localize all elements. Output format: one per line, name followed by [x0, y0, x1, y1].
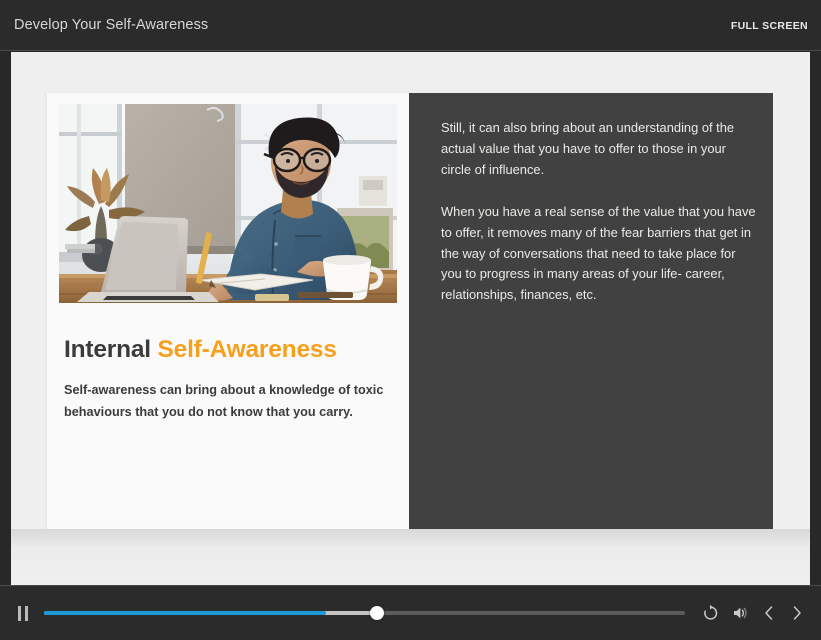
office-photo: [59, 104, 397, 303]
replay-icon: [701, 604, 719, 622]
previous-slide-button[interactable]: [755, 598, 783, 628]
next-slide-button[interactable]: [783, 598, 811, 628]
volume-icon: [731, 604, 749, 622]
narration-paragraph-2: When you have a real sense of the value …: [441, 202, 759, 307]
pause-bar-right: [25, 606, 29, 621]
card-heading-accent: Self-Awareness: [158, 336, 337, 363]
narration-paragraph-1: Still, it can also bring about an unders…: [441, 118, 759, 181]
progress-slider[interactable]: [44, 600, 685, 626]
card-body-text: Self-awareness can bring about a knowled…: [64, 380, 384, 424]
page-title: Develop Your Self-Awareness: [14, 17, 208, 33]
player-control-bar: [0, 585, 821, 640]
progress-handle[interactable]: [370, 606, 384, 620]
slide-stage: Internal Self-Awareness Self-awareness c…: [11, 52, 810, 585]
progress-played: [44, 611, 326, 615]
card-heading-plain: Internal: [64, 336, 158, 363]
content-card: Internal Self-Awareness Self-awareness c…: [47, 93, 409, 544]
narration-panel-content: Still, it can also bring about an unders…: [441, 118, 759, 306]
fullscreen-button[interactable]: FULL SCREEN: [731, 20, 808, 32]
chevron-left-icon: [761, 604, 777, 622]
office-photo-illustration: [59, 104, 397, 303]
pause-bar-left: [18, 606, 22, 621]
volume-button[interactable]: [725, 598, 755, 628]
replay-button[interactable]: [695, 598, 725, 628]
app-header: Develop Your Self-Awareness FULL SCREEN: [0, 0, 821, 51]
pause-button[interactable]: [10, 600, 36, 626]
chevron-right-icon: [789, 604, 805, 622]
narration-panel: Still, it can also bring about an unders…: [409, 93, 773, 544]
card-heading: Internal Self-Awareness: [64, 336, 337, 364]
